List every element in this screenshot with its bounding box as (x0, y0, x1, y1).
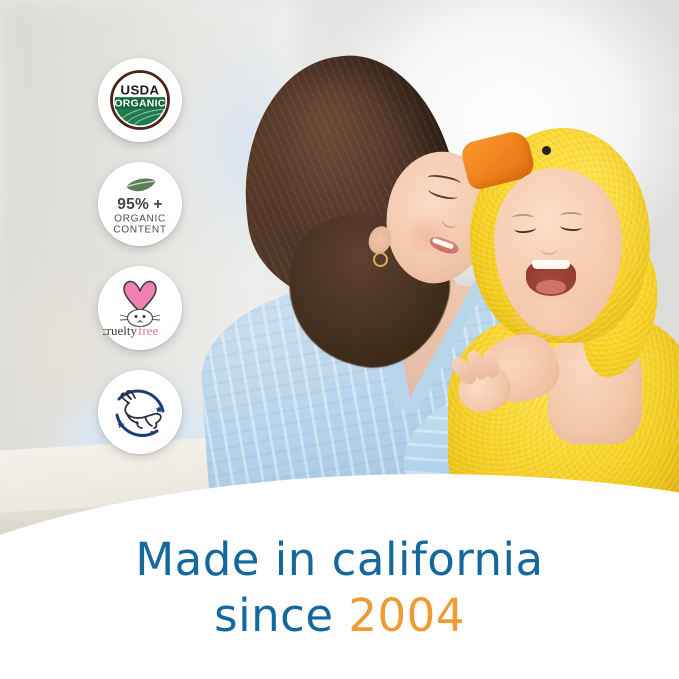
baby-eyebrow-left (512, 214, 534, 222)
heart-bunny-ears-icon (124, 281, 156, 312)
organic-content-line1: 95% + (117, 196, 162, 213)
badge-usda-organic[interactable]: USDA ORGANIC (98, 58, 182, 142)
badge-cruelty-free[interactable]: cruelty free (98, 266, 182, 350)
organic-content-icon: 95% + ORGANIC CONTENT (104, 171, 176, 237)
mother-earring (373, 252, 388, 267)
baby-teeth (532, 260, 570, 269)
leaf-icon (126, 179, 156, 192)
product-banner: USDA ORGANIC 95% + ORGANIC CONTENT (0, 0, 679, 679)
baby-tongue (536, 280, 566, 294)
baby-figure (452, 118, 679, 518)
tagline-line-2: since 2004 (0, 590, 679, 642)
tagline-line-1: Made in california (0, 534, 679, 586)
leaping-bunny-icon (107, 381, 173, 443)
organic-content-line3: CONTENT (113, 225, 166, 236)
bunny-eye-right (143, 315, 146, 318)
organic-content-line2: ORGANIC (114, 214, 166, 225)
usda-organic-line2: ORGANIC (114, 98, 165, 109)
baby-eyebrow-right (560, 212, 582, 220)
tagline-year: 2004 (348, 589, 465, 642)
tagline: Made in california since 2004 (0, 534, 679, 642)
badge-organic-content[interactable]: 95% + ORGANIC CONTENT (98, 162, 182, 246)
cruelty-free-icon: cruelty free (103, 275, 177, 341)
tagline-since-label: since (214, 589, 348, 642)
duck-eye-icon (542, 146, 551, 155)
white-bottom-fill (0, 650, 679, 679)
cruelty-free-word2: free (138, 323, 158, 338)
baby-nose (540, 242, 558, 255)
bunny-eye-left (135, 315, 138, 318)
badge-leaping-bunny[interactable] (98, 370, 182, 454)
usda-organic-line1: USDA (121, 83, 160, 98)
cruelty-free-word1: cruelty (103, 323, 137, 338)
usda-organic-icon: USDA ORGANIC (107, 67, 173, 133)
certification-badge-list: USDA ORGANIC 95% + ORGANIC CONTENT (98, 58, 190, 474)
